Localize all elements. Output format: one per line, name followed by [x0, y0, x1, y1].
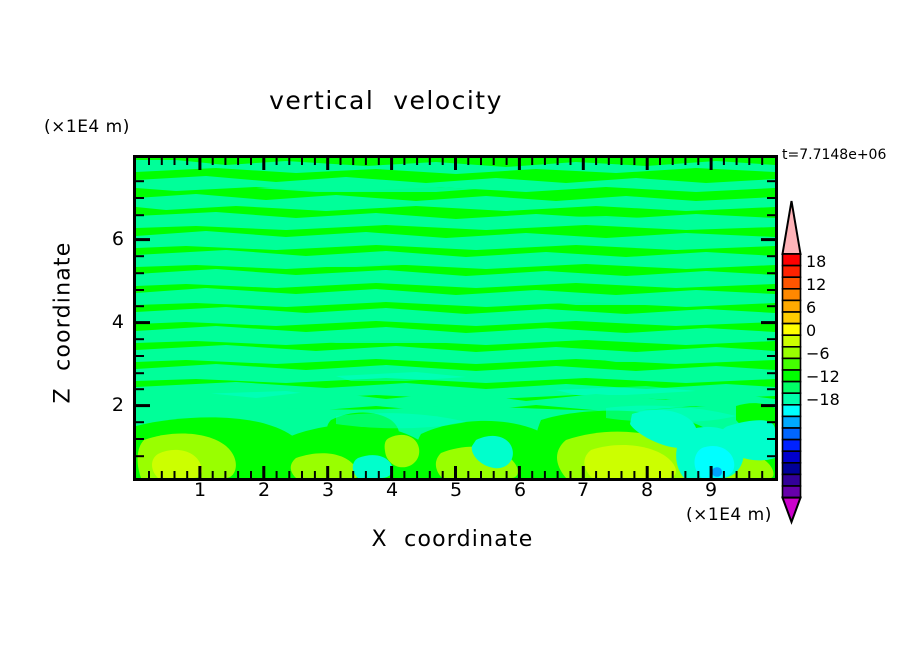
y-tick-label-6: 6 [84, 228, 124, 250]
x-tick-label-6: 6 [500, 479, 540, 501]
time-annotation: t=7.7148e+06 [782, 147, 886, 163]
y-axis-title: Z coordinate [51, 198, 76, 448]
page-title: vertical velocity [0, 86, 772, 115]
colorbar: 18 12 6 0 −6 −12 −18 [780, 196, 816, 526]
x-tick-label-2: 2 [244, 479, 284, 501]
x-tick-label-8: 8 [627, 479, 667, 501]
contour-field [136, 158, 775, 478]
x-tick-label-9: 9 [691, 479, 731, 501]
x-tick-label-1: 1 [180, 479, 220, 501]
x-tick-label-4: 4 [372, 479, 412, 501]
z-axis-unit-label: (×1E4 m) [44, 117, 130, 137]
colorbar-over-arrow [783, 201, 801, 254]
figure-root: vertical velocity (×1E4 m) t=7.7148e+06 … [0, 0, 904, 654]
x-axis-unit-label: (×1E4 m) [686, 505, 772, 525]
colorbar-label-0: 0 [806, 321, 816, 340]
colorbar-under-arrow [783, 498, 801, 522]
colorbar-label-n6: −6 [806, 344, 830, 363]
colorbar-bands [783, 254, 801, 498]
y-tick-label-4: 4 [84, 311, 124, 333]
colorbar-label-n12: −12 [806, 367, 840, 386]
x-tick-label-5: 5 [436, 479, 476, 501]
x-tick-label-3: 3 [308, 479, 348, 501]
x-axis-title: X coordinate [133, 527, 772, 552]
colorbar-label-18: 18 [806, 252, 826, 271]
x-tick-label-7: 7 [563, 479, 603, 501]
y-tick-label-2: 2 [84, 394, 124, 416]
colorbar-label-n18: −18 [806, 390, 840, 409]
contour-plot-frame [133, 155, 778, 481]
colorbar-label-12: 12 [806, 275, 826, 294]
colorbar-label-6: 6 [806, 298, 816, 317]
